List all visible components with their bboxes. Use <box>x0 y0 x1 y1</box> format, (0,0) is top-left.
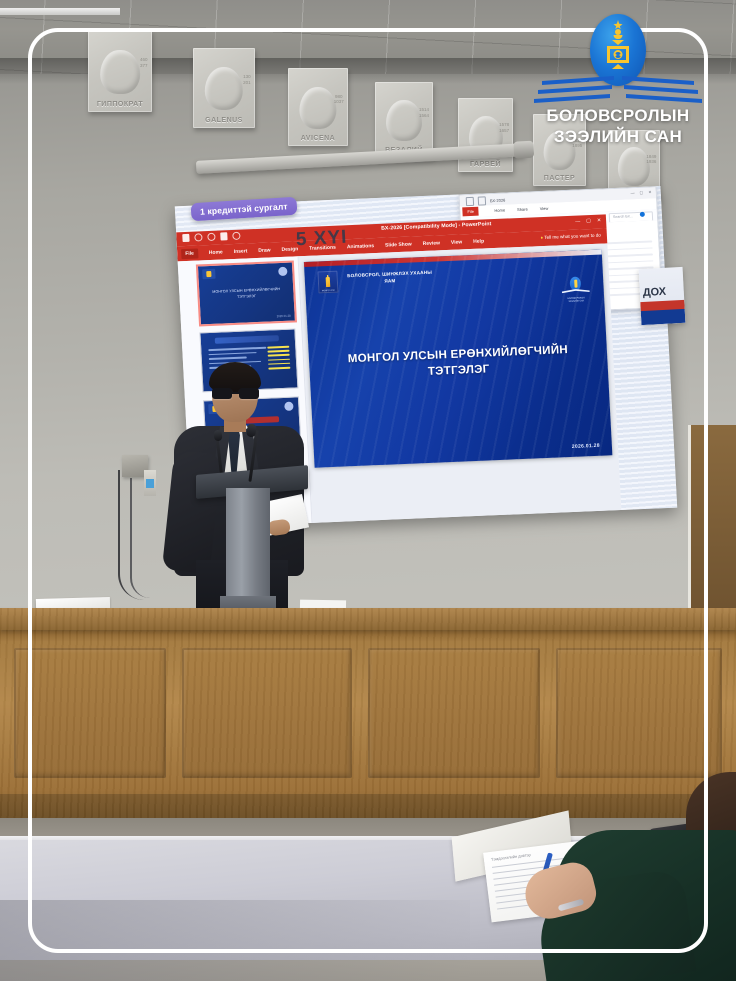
relief-years: 9801037 <box>334 94 344 105</box>
slide-thumbnail[interactable]: 1 МОНГОЛ УЛСЫН ЕРӨНХИЙЛӨГЧИЙН ТЭТГЭЛЭГ 2… <box>196 260 297 326</box>
tell-me-search[interactable]: ♦ Tell me what you want to do <box>541 233 601 241</box>
explorer-window-controls[interactable]: —▢✕ <box>630 189 651 195</box>
tab-home[interactable]: Home <box>209 249 223 256</box>
slide-ministry-name: БОЛОВСРОЛ, ШИНЖЛЭХ УХААНЫ ЯАМ <box>344 269 435 287</box>
wall-relief-plaque: 9801037 AVICENA <box>288 68 348 146</box>
relief-name: ГИППОКРАТ <box>88 101 152 108</box>
presentation-icon[interactable] <box>220 232 227 240</box>
soyombo-bar-bottom <box>608 60 628 63</box>
folder-icon <box>478 196 486 205</box>
ministry-logo-caption: МОНГОЛ УЛС <box>318 290 338 293</box>
wall-relief-plaque: 15141564 ВЕЗАЛИЙ <box>375 82 433 158</box>
lightbulb-icon: ♦ <box>541 235 544 240</box>
quick-access-toolbar[interactable] <box>182 232 240 242</box>
window-title: БХ-2026 [Compatibility Mode] - PowerPoin… <box>381 221 492 232</box>
fund-emblem-icon <box>278 267 287 276</box>
soyombo-oval <box>570 276 582 290</box>
hanging-cable <box>130 478 150 598</box>
slide-date: 2026.01.28 <box>572 443 600 450</box>
large-screen-text: 5 XYI <box>295 227 348 252</box>
tab-view[interactable]: View <box>451 239 463 245</box>
search-placeholder: Search БХ... <box>613 214 633 219</box>
redo-icon[interactable] <box>207 233 215 241</box>
secondary-screen-text: ДОХ <box>643 286 667 299</box>
tab-draw[interactable]: Draw <box>258 247 271 254</box>
wood-panel <box>182 648 352 778</box>
open-book-icon <box>524 68 712 108</box>
slide-thumbnail-heading-bar <box>215 335 279 344</box>
soyombo-moon <box>614 35 623 39</box>
table-shadow <box>0 900 470 981</box>
close-icon[interactable]: ✕ <box>597 218 602 224</box>
presentation-photo: 460377 ГИППОКРАТ 130201 GALENUS 9801037 … <box>0 0 736 981</box>
tell-me-label: Tell me what you want to do <box>544 233 601 240</box>
wood-panel <box>556 648 722 778</box>
brand-name-line1: БОЛОВСРОЛЫН <box>524 106 712 127</box>
education-loan-fund-icon: БОЛОВСРОЛЫНЗЭЭЛИЙН САН <box>561 276 590 303</box>
relief-name: ГАРВЕЙ <box>458 161 513 168</box>
soyombo-yin-yang <box>614 50 623 59</box>
wall-relief-plaque: 460377 ГИППОКРАТ <box>88 30 152 112</box>
slide-title: МОНГОЛ УЛСЫН ЕРӨНХИЙЛӨГЧИЙН ТЭТГЭЛЭГ <box>332 341 584 385</box>
relief-name: GALENUS <box>193 117 255 124</box>
tab-animations[interactable]: Animations <box>347 243 375 250</box>
explorer-tab-label: БХ-2026 <box>490 198 506 204</box>
folder-icon <box>466 197 474 206</box>
ministry-logo-icon <box>202 269 216 280</box>
ministry-tower-glyph <box>324 275 333 287</box>
sunglasses <box>212 388 259 399</box>
powerpoint-window-controls[interactable]: — ▢ ✕ <box>575 218 601 225</box>
explorer-menu-home[interactable]: Home <box>494 208 505 213</box>
brand-logo: БОЛОВСРОЛЫН ЗЭЭЛИЙН САН <box>524 10 712 138</box>
stage-base-trim <box>0 794 736 820</box>
relief-portrait <box>618 147 650 186</box>
relief-name: AVICENA <box>288 135 348 142</box>
soyombo-bar-top <box>608 46 628 49</box>
slide-editing-area[interactable]: МОНГОЛ УЛС БОЛОВСРОЛ, ШИНЖЛЭХ УХААНЫ ЯАМ… <box>299 243 622 523</box>
customize-toolbar-icon[interactable] <box>232 232 240 240</box>
soyombo-symbol-icon <box>607 20 629 74</box>
stage-front-woodwork <box>0 608 736 820</box>
secondary-screen-blue-band <box>641 309 686 325</box>
relief-years: 15141564 <box>419 107 429 118</box>
ministry-logo-icon: МОНГОЛ УЛС <box>317 271 338 294</box>
wooden-door <box>688 425 736 615</box>
brand-name: БОЛОВСРОЛЫН ЗЭЭЛИЙН САН <box>524 106 712 147</box>
current-slide[interactable]: МОНГОЛ УЛС БОЛОВСРОЛ, ШИНЖЛЭХ УХААНЫ ЯАМ… <box>304 250 613 468</box>
open-book-shape <box>562 287 590 296</box>
undo-icon[interactable] <box>194 233 202 241</box>
fund-logo-caption: БОЛОВСРОЛЫНЗЭЭЛИЙН САН <box>562 297 590 304</box>
tab-file[interactable]: File <box>181 248 198 259</box>
relief-years: 18491936 <box>646 154 656 165</box>
wood-panel <box>368 648 540 778</box>
relief-portrait <box>100 50 140 94</box>
tab-review[interactable]: Review <box>423 240 441 247</box>
slide-thumbnail-title: МОНГОЛ УЛСЫН ЕРӨНХИЙЛӨГЧИЙН ТЭТГЭЛЭГ <box>209 287 285 301</box>
explorer-menu-view[interactable]: View <box>540 206 549 211</box>
maximize-icon[interactable]: ▢ <box>586 218 591 224</box>
wood-panel <box>14 648 166 778</box>
soyombo-fire <box>614 20 623 29</box>
minimize-icon[interactable]: — <box>575 218 580 224</box>
save-icon[interactable] <box>182 234 189 242</box>
ceiling-light-strip <box>0 8 120 15</box>
relief-years: 15781657 <box>499 122 509 133</box>
tab-help[interactable]: Help <box>473 238 484 244</box>
explorer-menu-share[interactable]: Share <box>517 207 528 212</box>
relief-name: ПАСТЕР <box>533 175 586 182</box>
microphone-head <box>213 430 222 442</box>
wall-relief-plaque: 15781657 ГАРВЕЙ <box>458 98 513 172</box>
relief-years: 460377 <box>140 57 148 68</box>
explorer-file-menu[interactable]: File <box>462 207 479 217</box>
secondary-screen: ДОХ <box>639 267 686 325</box>
brand-name-line2: ЗЭЭЛИЙН САН <box>524 127 712 148</box>
tab-insert[interactable]: Insert <box>234 248 248 255</box>
wall-relief-plaque: 130201 GALENUS <box>193 48 255 128</box>
stage-top-rail <box>0 608 736 630</box>
tab-slide-show[interactable]: Slide Show <box>385 241 412 248</box>
explorer-menu-items[interactable]: Home Share View <box>494 206 548 213</box>
slide-thumbnail-date: 2026.01.28 <box>277 314 291 319</box>
relief-portrait <box>299 87 336 129</box>
relief-portrait <box>205 67 243 110</box>
relief-years: 130201 <box>243 74 251 85</box>
soyombo-triangle-top <box>612 40 624 45</box>
relief-portrait <box>386 100 422 141</box>
